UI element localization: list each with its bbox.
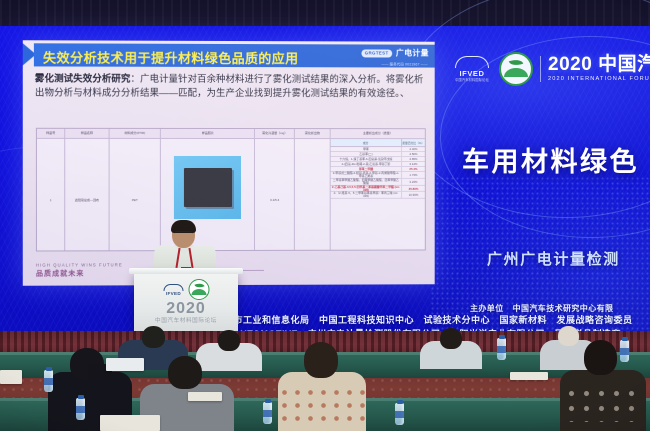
table-header-id: 样品号 [37, 129, 64, 139]
brand-divider [540, 56, 541, 82]
table-header-photo: 样品照片 [161, 129, 254, 139]
person-head [440, 328, 462, 349]
event-title-en: 2020 INTERNATIONAL FORUM [548, 77, 650, 83]
person-head [218, 330, 240, 351]
table-row: 2-（2-羟基-5，5-二甲苯基苯基甲基）苯丙三唑 (uv-329)10.99% [331, 192, 425, 199]
bottle-cap [265, 399, 271, 403]
bottle-label [395, 411, 404, 418]
sample-specimen [184, 168, 232, 207]
table-cell-name: 遮阳帘总成—顶布 [65, 139, 108, 261]
table-col-components: 主要析出成分（质量） 成分 质量百分比（%） 甲苯4.32%乙基苯(二)4.50… [331, 129, 425, 250]
component-name: 二甲基苯甲酸乙酸酯，四苯甲酸乙酸酯，四苯甲酸乙酸酯 [331, 179, 402, 185]
subheader-component: 成分 [331, 139, 402, 146]
slide-title-bar: 失效分析技术用于提升材料绿色品质的应用 GRGTEST 广电计量 —— 服务代码… [34, 43, 435, 67]
bottle-cap [499, 335, 505, 339]
podium-ifved-name: IFVED [166, 291, 181, 296]
table-cell-emission [295, 139, 330, 260]
person-head [304, 342, 338, 378]
bottle-cap [622, 337, 628, 341]
audience-person-front-3 [278, 342, 366, 431]
slide-footer-cn: 品质成就未来 [36, 268, 123, 278]
logo-hill-shape [504, 68, 528, 77]
backdrop-hero-subline: 广州广电计量检测 [487, 248, 620, 269]
event-brand-row: IFVED 中国汽车材料国际论坛 2020 中国汽车 2020 INTERNAT… [452, 52, 650, 86]
event-title-cn: 2020 中国汽车 [548, 55, 650, 74]
component-name: 3-甲基戊二酸酯-2-羟基-丙基-2-甲基-2-丙烯酸甲酯-α-甲基乙烯基 [331, 172, 402, 178]
podium-year: 2020 [166, 300, 206, 318]
paper-document [510, 372, 548, 380]
slide-footer-en: HIGH QUALITY WINS FUTURE [36, 262, 123, 267]
water-bottle [44, 370, 53, 392]
bottle-label [76, 406, 85, 413]
component-percent: 26.89% [402, 185, 425, 191]
ifved-logo-icon: IFVED 中国汽车材料国际论坛 [452, 54, 492, 84]
component-rows: 甲苯4.32%乙基苯(二)4.50%十六烷，1-溴丁基苯-6-四氢萘-氧杂环戊烷… [331, 147, 425, 199]
component-percent: 10.99% [402, 192, 425, 198]
table-subheader-row: 成分 质量百分比（%） [331, 139, 425, 147]
table-header-name: 样品名称 [65, 129, 108, 139]
component-name: 十六烷，1-溴丁基苯-6-四氢萘-氧杂环戊烷 [331, 157, 402, 161]
speaker-glasses-icon [174, 231, 193, 237]
sponsor-label-0: 主办单位 [470, 304, 504, 313]
component-percent: 4.32% [402, 147, 425, 151]
table-cell-id: 1 [37, 139, 64, 261]
bottle-label [620, 348, 629, 355]
component-percent: 4.50% [402, 152, 425, 156]
slide-title: 失效分析技术用于提升材料绿色品质的应用 [43, 47, 298, 67]
podium-ifved-arc [164, 284, 184, 291]
podium-green-logo-icon [189, 279, 210, 300]
water-bottle [395, 403, 404, 425]
event-title-cn-text: 中国汽车 [598, 54, 650, 75]
paper-document [188, 392, 222, 401]
sample-photo [174, 156, 241, 219]
water-bottle [76, 398, 85, 420]
slide-data-table: 样品号 1 样品名称 遮阳帘总成—顶布 材料成分(FTIR) PET 样品照片 … [36, 128, 426, 252]
table-header-material: 材料成分(FTIR) [109, 129, 160, 139]
person-pattern [564, 386, 642, 422]
podium-ifved-icon: IFVED [163, 282, 185, 298]
conference-photo: IFVED 中国汽车材料国际论坛 2020 中国汽车 2020 INTERNAT… [0, 0, 650, 431]
green-circle-logo-icon [499, 52, 533, 86]
ifved-logo-name: IFVED [459, 69, 484, 78]
bottle-label [497, 346, 506, 353]
table-col-name: 样品名称 遮阳帘总成—顶布 [65, 129, 109, 251]
slide-body-text: 雾化测试失效分析研究：广电计量针对百余种材料进行了雾化测试结果的深入分析。将雾化… [35, 71, 425, 100]
table-header-emission: 雾化析出物 [295, 129, 330, 139]
paper-document [0, 370, 22, 384]
logo-leaf-shape [509, 57, 524, 68]
component-percent: 3.14% [402, 162, 425, 166]
person-head [168, 356, 202, 389]
slide-footer: HIGH QUALITY WINS FUTURE 品质成就未来 [36, 262, 123, 278]
component-percent: 3.23% [402, 179, 425, 185]
component-name: 甲苯 [331, 147, 402, 151]
ifved-logo-sub: 中国汽车材料国际论坛 [455, 78, 489, 82]
backdrop-hero-headline: 车用材料绿色 [462, 140, 639, 179]
bottle-label [263, 410, 272, 417]
audience-person-back-3 [420, 328, 482, 366]
laptop-or-sign [106, 358, 144, 371]
subheader-percent: 质量百分比（%） [402, 139, 425, 146]
water-bottle [497, 338, 506, 360]
badge-sub: —— 服务代码 0021967 —— [382, 61, 428, 66]
event-year: 2020 [548, 54, 592, 75]
component-name: 2-（2-羟基-5，5-二甲苯基苯基甲基）苯丙三唑 (uv-329) [331, 192, 402, 198]
table-header-fog: 雾化冷凝量（mg） [255, 129, 294, 139]
water-bottle [620, 340, 629, 362]
podium-top [129, 268, 243, 274]
paper-document [100, 415, 160, 431]
sponsor-text-1: 天津市工业和信息化局 中国工程科技知识中心 试验技术分中心 国家新材料 发展战略… [215, 315, 633, 325]
person-head [142, 326, 165, 348]
component-name: 乙基苯(二) [331, 152, 402, 156]
podium-logo-hill [192, 289, 207, 295]
person-pattern [278, 386, 366, 426]
table-col-fog: 雾化冷凝量（mg） 3.1/5.4 [255, 129, 295, 250]
table-col-id: 样品号 1 [37, 129, 65, 251]
bottle-cap [78, 395, 84, 399]
audience-person-front-4 [560, 340, 646, 431]
component-name: 4-(四氢-2H-吡喃-2-基)乙氧基-甲基丁醇 [331, 162, 402, 166]
slide-brand-badge: GRGTEST 广电计量 —— 服务代码 0021967 —— [361, 47, 429, 58]
table-cell-fog: 3.1/5.4 [255, 139, 294, 260]
badge-pill: GRGTEST [361, 49, 392, 57]
projected-slide: 失效分析技术用于提升材料绿色品质的应用 GRGTEST 广电计量 —— 服务代码… [23, 40, 435, 286]
event-brand-text: 2020 中国汽车 2020 INTERNATIONAL FORUM [548, 55, 650, 83]
badge-name: 广电计量 [396, 48, 429, 59]
table-col-emission: 雾化析出物 [295, 129, 331, 250]
slide-body-lead: 雾化测试失效分析研究 [35, 72, 131, 83]
component-percent: 4.65% [402, 157, 425, 161]
ifved-arc [455, 56, 489, 68]
bottle-cap [46, 367, 52, 371]
sponsor-text-0: 中国汽车技术研究中心有限 [513, 304, 614, 313]
podium-caption: 中国汽车材料国际论坛 [155, 318, 217, 326]
sponsor-line-1: 位天津市工业和信息化局 中国工程科技知识中心 试验技术分中心 国家新材料 发展战… [196, 313, 633, 326]
person-head [584, 340, 617, 375]
component-percent: 25.4% [402, 167, 425, 171]
bottle-cap [397, 400, 403, 404]
podium-logo-row: IFVED [163, 279, 210, 300]
table-header-components: 主要析出成分（质量） [331, 129, 425, 139]
bottle-label [44, 378, 53, 385]
component-percent: 1.73% [402, 172, 425, 178]
water-bottle [263, 402, 272, 424]
